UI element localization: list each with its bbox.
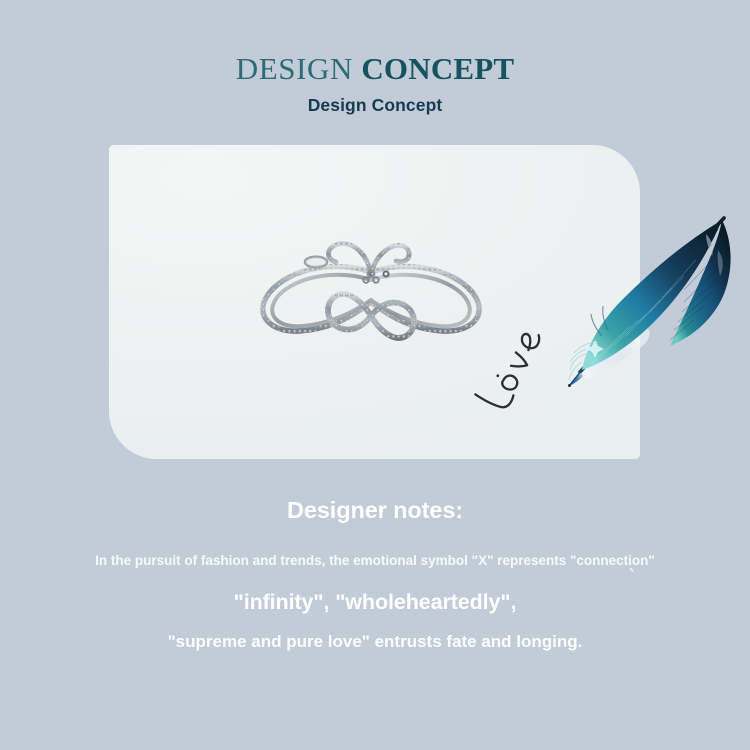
design-concept-page: DESIGN CONCEPT Design Concept xyxy=(0,0,750,750)
page-subtitle: Design Concept xyxy=(0,95,750,116)
page-title-word-design: DESIGN xyxy=(236,51,353,86)
designer-notes-section: Designer notes: In the pursuit of fashio… xyxy=(0,495,750,652)
infinity-chain-necklace-icon xyxy=(240,230,502,360)
designer-notes-line-3: "supreme and pure love" entrusts fate an… xyxy=(0,632,750,652)
product-image-card xyxy=(109,145,640,459)
page-title: DESIGN CONCEPT xyxy=(0,52,750,86)
page-title-block: DESIGN CONCEPT Design Concept xyxy=(0,52,750,116)
designer-notes-trailing-mark: 、 xyxy=(629,559,642,575)
designer-notes-line-2: "infinity", "wholeheartedly", xyxy=(0,590,750,616)
designer-notes-line-1: In the pursuit of fashion and trends, th… xyxy=(0,553,750,569)
designer-notes-heading: Designer notes: xyxy=(0,495,750,525)
card-surface xyxy=(109,145,640,459)
page-title-word-concept: CONCEPT xyxy=(361,51,514,86)
designer-notes-body: In the pursuit of fashion and trends, th… xyxy=(0,553,750,652)
designer-notes-line-1-text: In the pursuit of fashion and trends, th… xyxy=(95,553,655,568)
